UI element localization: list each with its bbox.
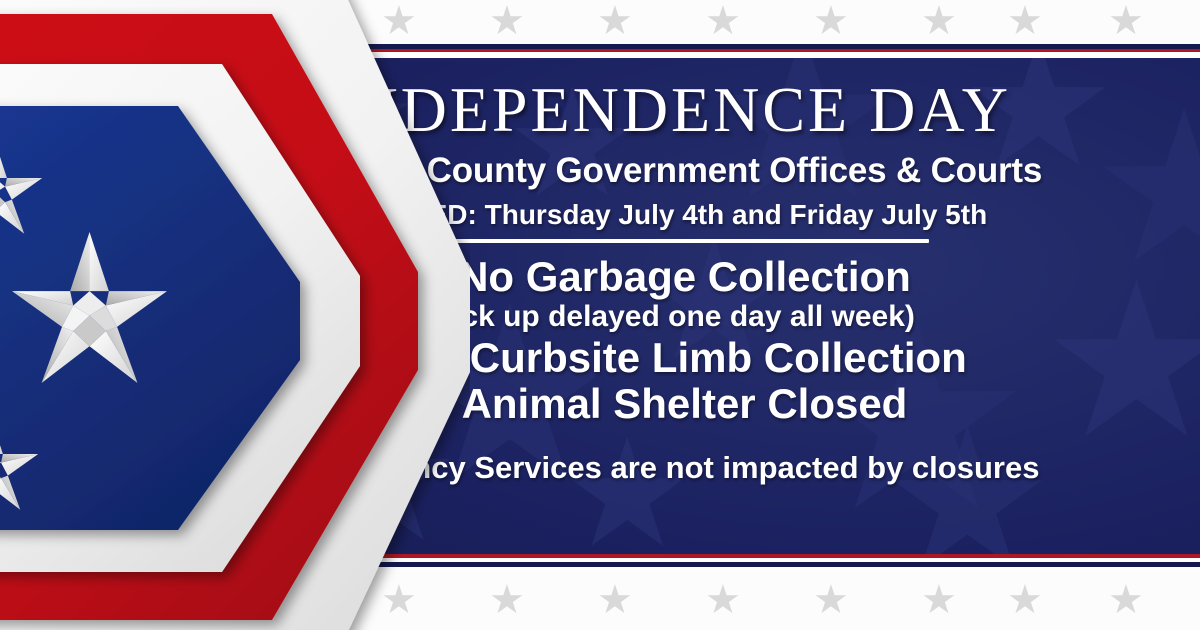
- band-star-icon: ★: [705, 1, 741, 41]
- list-item-label: No Garbage Collection: [458, 256, 911, 299]
- band-star-icon: ★: [921, 580, 957, 620]
- band-star-icon: ★: [1108, 580, 1144, 620]
- band-star-icon: ★: [1007, 1, 1043, 41]
- band-star-icon: ★: [1007, 580, 1043, 620]
- band-star-icon: ★: [921, 1, 957, 41]
- list-item-label: No Curbsite Limb Collection: [402, 337, 967, 380]
- chevron-flag-graphic: [0, 0, 470, 630]
- band-star-icon: ★: [489, 1, 525, 41]
- band-star-icon: ★: [597, 580, 633, 620]
- list-item: ☆ No Garbage Collection: [427, 256, 911, 299]
- list-item-label: Animal Shelter Closed: [462, 383, 908, 426]
- band-star-icon: ★: [705, 580, 741, 620]
- band-star-icon: ★: [813, 1, 849, 41]
- list-item-note: (Pick up delayed one day all week): [423, 301, 915, 333]
- list-item: ☆ Animal Shelter Closed: [431, 383, 908, 426]
- band-star-icon: ★: [1108, 1, 1144, 41]
- band-star-icon: ★: [489, 580, 525, 620]
- independence-day-poster: ★ ★ ★ ★ ★ ★ ★ ★ ★ ★ ★ ★ ★ ★ ★ ★ ★ ★ ★ ★ …: [0, 0, 1200, 630]
- band-star-icon: ★: [813, 580, 849, 620]
- divider-rule: [409, 239, 929, 243]
- band-star-icon: ★: [597, 1, 633, 41]
